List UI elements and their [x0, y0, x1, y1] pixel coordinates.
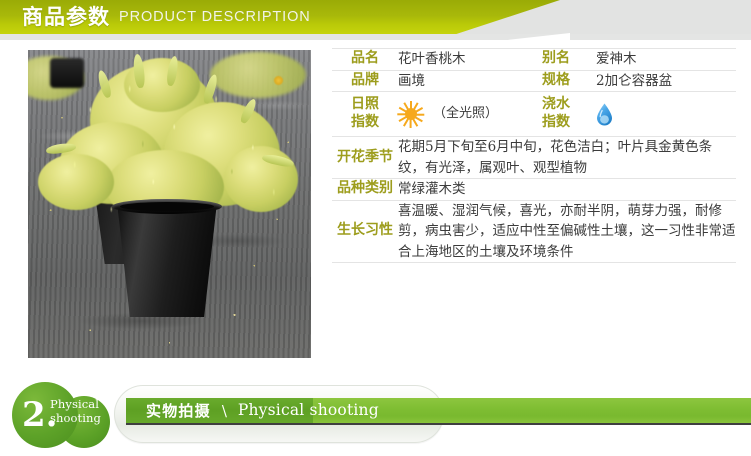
- spec-value-variety-category: 常绿灌木类: [398, 179, 736, 201]
- section-badge-en: Physical shooting: [50, 398, 122, 425]
- photo-pot-rim-inner: [120, 202, 214, 211]
- page-title: 商品参数: [22, 7, 110, 28]
- spec-value-alias: 爱神木: [586, 49, 736, 71]
- section-badge-en-line1: Physical: [50, 398, 122, 412]
- table-row: 品种类别 常绿灌木类: [332, 179, 736, 201]
- spec-label-brand: 品牌: [332, 70, 398, 92]
- photo-main-pot: [114, 204, 220, 317]
- page-title-en: PRODUCT DESCRIPTION: [119, 10, 311, 25]
- sunlight-label-text: （全光照）: [433, 104, 498, 124]
- water-drop-icon: [596, 103, 736, 126]
- header-gray-strip: [0, 34, 751, 40]
- header-title-group: 商品参数 PRODUCT DESCRIPTION: [22, 0, 311, 34]
- spec-label-specification: 规格: [526, 70, 586, 92]
- table-row: 品牌 画境 规格 2加仑容器盆: [332, 70, 736, 92]
- spec-value-flowering-season: 花期5月下旬至6月中旬，花色洁白；叶片具金黄色条纹，有光泽，属观叶、观型植物: [398, 137, 736, 179]
- spec-label-product-name: 品名: [332, 49, 398, 71]
- section-title-cn: 实物拍摄: [146, 404, 211, 419]
- spec-value-brand: 画境: [398, 70, 526, 92]
- spec-value-sunlight-index: （全光照）: [398, 92, 526, 137]
- spec-label-flowering-season: 开花季节: [332, 137, 398, 179]
- spec-label-growth-habit: 生长习性: [332, 200, 398, 263]
- product-description-header: 商品参数 PRODUCT DESCRIPTION: [0, 0, 751, 40]
- spec-label-watering-index: 浇水 指数: [526, 92, 586, 137]
- sun-icon: [398, 101, 424, 127]
- section-title-en: Physical shooting: [238, 403, 379, 419]
- spec-label-alias: 别名: [526, 49, 586, 71]
- table-row: 日照 指数: [332, 92, 736, 137]
- spec-value-watering-index: [586, 92, 736, 137]
- table-row: 开花季节 花期5月下旬至6月中旬，花色洁白；叶片具金黄色条纹，有光泽，属观叶、观…: [332, 137, 736, 179]
- table-row: 品名 花叶香桃木 别名 爱神木: [332, 49, 736, 71]
- spec-label-sunlight-index: 日照 指数: [332, 92, 398, 137]
- product-photo: [28, 50, 311, 358]
- sunlight-value-group: （全光照）: [398, 101, 526, 127]
- section-title-separator: \: [222, 404, 227, 419]
- spec-value-specification: 2加仑容器盆: [586, 70, 736, 92]
- product-spec-table: 品名 花叶香桃木 别名 爱神木 品牌 画境 规格 2加仑容器盆 日照 指数: [332, 48, 736, 263]
- spec-label-variety-category: 品种类别: [332, 179, 398, 201]
- table-row: 生长习性 喜温暖、湿润气候，喜光，亦耐半阴，萌芽力强，耐修剪，病虫害少，适应中性…: [332, 200, 736, 263]
- spec-value-growth-habit: 喜温暖、湿润气候，喜光，亦耐半阴，萌芽力强，耐修剪，病虫害少，适应中性至偏碱性土…: [398, 200, 736, 263]
- section-bar-title-group: 实物拍摄 \ Physical shooting: [146, 398, 379, 424]
- section-badge-en-line2: shooting: [50, 412, 122, 426]
- spec-value-product-name: 花叶香桃木: [398, 49, 526, 71]
